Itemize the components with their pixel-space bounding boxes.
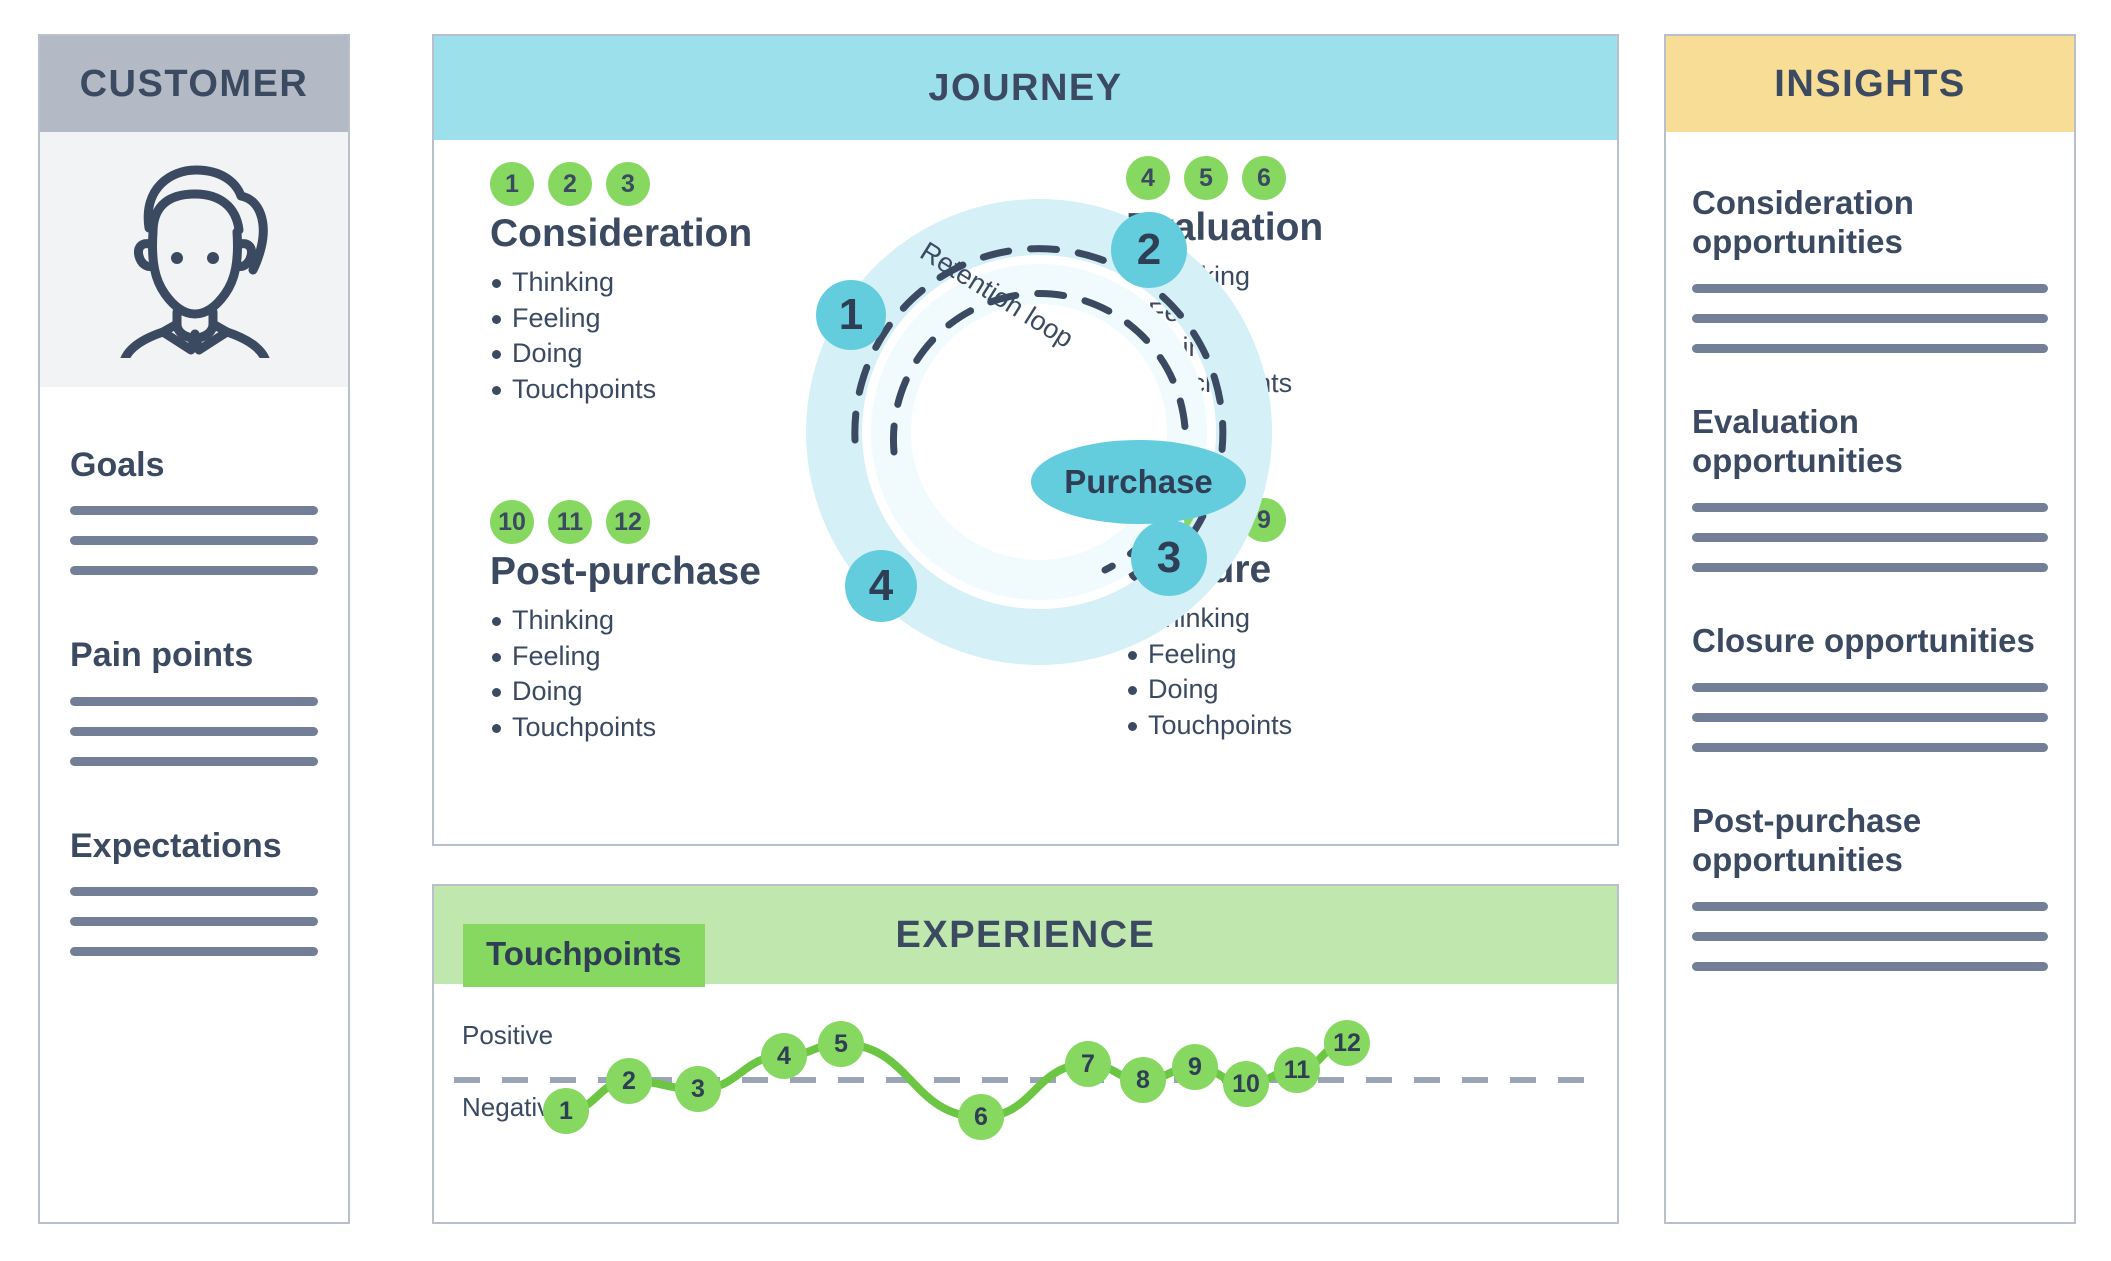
chart-point-2[interactable]: 2 xyxy=(606,1058,652,1104)
section-title: Evaluation opportunities xyxy=(1692,403,2048,481)
experience-header-title: EXPERIENCE xyxy=(896,914,1156,957)
customer-panel-header: CUSTOMER xyxy=(40,36,348,132)
stage-badge: 11 xyxy=(548,500,592,544)
chart-point-6[interactable]: 6 xyxy=(958,1094,1004,1140)
placeholder-line xyxy=(70,887,318,896)
customer-section-expectations: Expectations xyxy=(40,828,348,956)
placeholder-line xyxy=(70,757,318,766)
touchpoints-tag: Touchpoints xyxy=(463,924,705,987)
placeholder-line xyxy=(70,727,318,736)
placeholder-line xyxy=(1692,563,2048,572)
chart-point-3[interactable]: 3 xyxy=(675,1066,721,1112)
stage-badge: 2 xyxy=(548,162,592,206)
insights-panel-header: INSIGHTS xyxy=(1666,36,2074,132)
section-title: Expectations xyxy=(70,828,318,865)
experience-chart: Positive Negative 1 2 3 4 5 6 7 8 9 10 1… xyxy=(434,984,1617,1224)
purchase-node[interactable]: Purchase xyxy=(1031,440,1246,524)
chart-point-10[interactable]: 10 xyxy=(1223,1061,1269,1107)
journey-panel-header: JOURNEY xyxy=(434,36,1617,140)
stage-badge: 12 xyxy=(606,500,650,544)
experience-panel-header: EXPERIENCE Touchpoints xyxy=(434,886,1617,984)
placeholder-line xyxy=(1692,743,2048,752)
placeholder-line xyxy=(1692,344,2048,353)
stage-item: Touchpoints xyxy=(1126,708,1456,744)
placeholder-line xyxy=(70,947,318,956)
customer-section-goals: Goals xyxy=(40,447,348,575)
placeholder-line xyxy=(1692,683,2048,692)
avatar xyxy=(40,132,348,387)
wheel-node-4[interactable]: 4 xyxy=(845,550,917,622)
placeholder-line xyxy=(1692,932,2048,941)
placeholder-line xyxy=(1692,713,2048,722)
insights-panel: INSIGHTS Consideration opportunities Eva… xyxy=(1664,34,2076,1224)
chart-point-9[interactable]: 9 xyxy=(1172,1044,1218,1090)
placeholder-line xyxy=(70,917,318,926)
placeholder-line xyxy=(1692,902,2048,911)
placeholder-line xyxy=(70,566,318,575)
section-title: Post-purchase opportunities xyxy=(1692,802,2048,880)
placeholder-line xyxy=(1692,314,2048,323)
journey-panel: JOURNEY 1 2 3 Consideration Thinking Fee… xyxy=(432,34,1619,846)
placeholder-line xyxy=(70,506,318,515)
journey-wheel: Retention loop 1 2 3 4 Purchase xyxy=(759,152,1319,712)
section-title: Consideration opportunities xyxy=(1692,184,2048,262)
chart-point-12[interactable]: 12 xyxy=(1324,1020,1370,1066)
placeholder-line xyxy=(70,536,318,545)
stage-badge: 1 xyxy=(490,162,534,206)
chart-point-5[interactable]: 5 xyxy=(818,1021,864,1067)
customer-panel: CUSTOMER Goals Pain points xyxy=(38,34,350,1224)
user-avatar-icon xyxy=(103,162,285,358)
section-title: Goals xyxy=(70,447,318,484)
wheel-node-3[interactable]: 3 xyxy=(1131,520,1207,596)
placeholder-line xyxy=(1692,962,2048,971)
insights-section-evaluation: Evaluation opportunities xyxy=(1666,403,2074,572)
stage-badge: 3 xyxy=(606,162,650,206)
stage-item: Touchpoints xyxy=(490,710,820,746)
chart-svg xyxy=(434,984,1617,1224)
chart-point-1[interactable]: 1 xyxy=(543,1088,589,1134)
wheel-node-1[interactable]: 1 xyxy=(816,280,886,350)
insights-section-closure: Closure opportunities xyxy=(1666,622,2074,752)
chart-point-7[interactable]: 7 xyxy=(1065,1041,1111,1087)
insights-section-post-purchase: Post-purchase opportunities xyxy=(1666,802,2074,971)
customer-section-pain-points: Pain points xyxy=(40,637,348,765)
insights-section-consideration: Consideration opportunities xyxy=(1666,184,2074,353)
chart-point-4[interactable]: 4 xyxy=(761,1033,807,1079)
chart-point-11[interactable]: 11 xyxy=(1274,1047,1320,1093)
chart-point-8[interactable]: 8 xyxy=(1120,1057,1166,1103)
placeholder-line xyxy=(70,697,318,706)
placeholder-line xyxy=(1692,533,2048,542)
wheel-node-2[interactable]: 2 xyxy=(1111,212,1187,288)
wheel-graphics xyxy=(759,152,1319,712)
placeholder-line xyxy=(1692,284,2048,293)
journey-body: 1 2 3 Consideration Thinking Feeling Doi… xyxy=(434,140,1617,844)
section-title: Closure opportunities xyxy=(1692,622,2048,661)
experience-panel: EXPERIENCE Touchpoints Positive Negative… xyxy=(432,884,1619,1224)
stage-badge: 10 xyxy=(490,500,534,544)
section-title: Pain points xyxy=(70,637,318,674)
placeholder-line xyxy=(1692,503,2048,512)
